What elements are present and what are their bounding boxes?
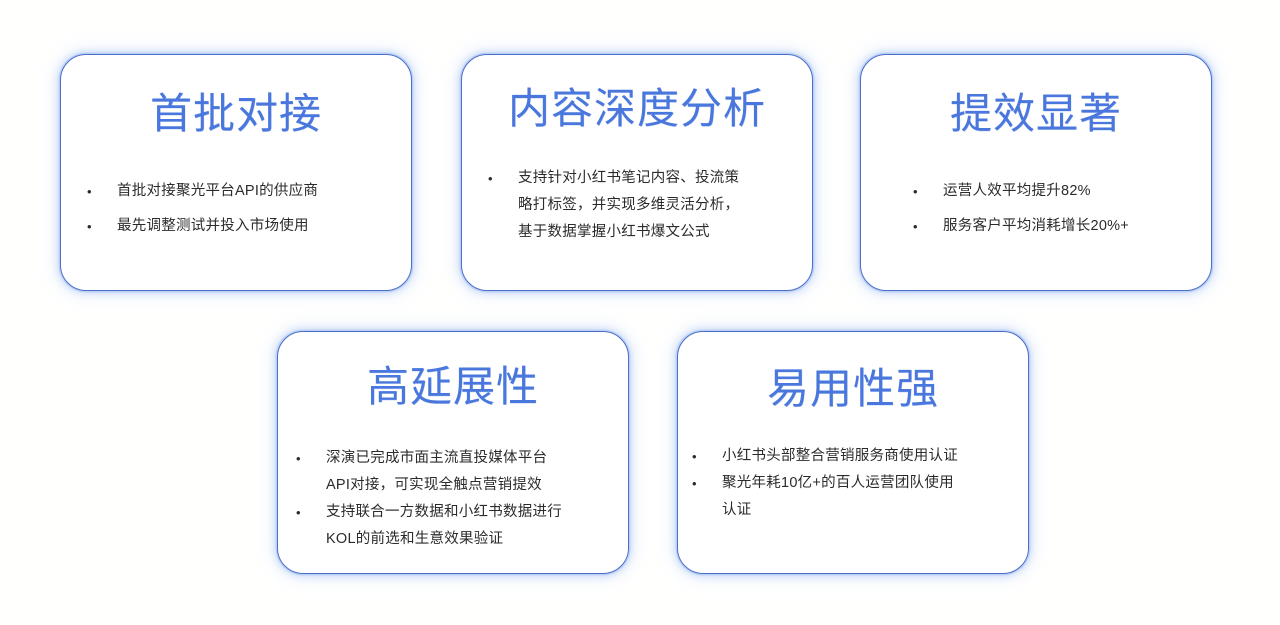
bullet-dot-icon: •	[87, 213, 117, 240]
bullet-item: • 首批对接聚光平台API的供应商	[87, 178, 395, 205]
bullet-line: 小红书头部整合营销服务商使用认证	[722, 443, 1016, 470]
bullet-item: • 服务客户平均消耗增长20%+	[913, 213, 1199, 240]
feature-card-usability: 易用性强 • 小红书头部整合营销服务商使用认证 • 聚光年耗10亿+的百人运营团…	[677, 331, 1029, 574]
bullet-line: 支持针对小红书笔记内容、投流策	[518, 165, 800, 192]
bullet-line: 支持联合一方数据和小红书数据进行	[326, 499, 616, 526]
feature-card-extensibility: 高延展性 • 深演已完成市面主流直投媒体平台 API对接，可实现全触点营销提效 …	[277, 331, 629, 574]
bullet-line: 运营人效平均提升82%	[943, 178, 1199, 205]
bullet-line: 首批对接聚光平台API的供应商	[117, 178, 395, 205]
bullet-text: 小红书头部整合营销服务商使用认证	[722, 443, 1016, 470]
bullet-line: 略打标签，并实现多维灵活分析，	[518, 192, 800, 219]
bullet-text: 聚光年耗10亿+的百人运营团队使用 认证	[722, 470, 1016, 524]
bullet-item: • 深演已完成市面主流直投媒体平台 API对接，可实现全触点营销提效	[296, 445, 616, 499]
bullet-line: 基于数据掌握小红书爆文公式	[518, 219, 800, 246]
bullet-text: 深演已完成市面主流直投媒体平台 API对接，可实现全触点营销提效	[326, 445, 616, 499]
bullet-dot-icon: •	[296, 499, 326, 526]
card-bullet-list: • 小红书头部整合营销服务商使用认证 • 聚光年耗10亿+的百人运营团队使用 认…	[678, 443, 1028, 524]
bullet-item: • 运营人效平均提升82%	[913, 178, 1199, 205]
bullet-line: API对接，可实现全触点营销提效	[326, 472, 616, 499]
card-title: 首批对接	[150, 91, 322, 136]
feature-card-efficiency-gain: 提效显著 • 运营人效平均提升82% • 服务客户平均消耗增长20%+	[860, 54, 1212, 291]
slide-canvas: 首批对接 • 首批对接聚光平台API的供应商 • 最先调整测试并投入市场使用 内…	[0, 0, 1280, 625]
bullet-dot-icon: •	[488, 165, 518, 192]
card-title: 高延展性	[367, 364, 539, 409]
bullet-item: • 小红书头部整合营销服务商使用认证	[692, 443, 1016, 470]
bullet-dot-icon: •	[692, 443, 722, 470]
feature-card-content-analysis: 内容深度分析 • 支持针对小红书笔记内容、投流策 略打标签，并实现多维灵活分析，…	[461, 54, 813, 291]
bullet-line: 深演已完成市面主流直投媒体平台	[326, 445, 616, 472]
feature-card-first-integration: 首批对接 • 首批对接聚光平台API的供应商 • 最先调整测试并投入市场使用	[60, 54, 412, 291]
bullet-dot-icon: •	[913, 178, 943, 205]
card-bullet-list: • 深演已完成市面主流直投媒体平台 API对接，可实现全触点营销提效 • 支持联…	[278, 445, 628, 553]
bullet-dot-icon: •	[913, 213, 943, 240]
bullet-line: 服务客户平均消耗增长20%+	[943, 213, 1199, 240]
bullet-item: • 支持针对小红书笔记内容、投流策 略打标签，并实现多维灵活分析， 基于数据掌握…	[488, 165, 800, 246]
card-title: 内容深度分析	[508, 86, 766, 131]
bullet-dot-icon: •	[87, 178, 117, 205]
bullet-line: KOL的前选和生意效果验证	[326, 526, 616, 553]
bullet-line: 聚光年耗10亿+的百人运营团队使用	[722, 470, 1016, 497]
bullet-dot-icon: •	[692, 470, 722, 497]
bullet-item: • 支持联合一方数据和小红书数据进行 KOL的前选和生意效果验证	[296, 499, 616, 553]
bullet-text: 支持针对小红书笔记内容、投流策 略打标签，并实现多维灵活分析， 基于数据掌握小红…	[518, 165, 800, 246]
bullet-text: 支持联合一方数据和小红书数据进行 KOL的前选和生意效果验证	[326, 499, 616, 553]
bullet-text: 最先调整测试并投入市场使用	[117, 213, 395, 240]
bullet-dot-icon: •	[296, 445, 326, 472]
bullet-text: 首批对接聚光平台API的供应商	[117, 178, 395, 205]
bullet-text: 运营人效平均提升82%	[943, 178, 1199, 205]
card-bullet-list: • 支持针对小红书笔记内容、投流策 略打标签，并实现多维灵活分析， 基于数据掌握…	[462, 165, 812, 246]
bullet-line: 最先调整测试并投入市场使用	[117, 213, 395, 240]
bullet-text: 服务客户平均消耗增长20%+	[943, 213, 1199, 240]
bullet-item: • 最先调整测试并投入市场使用	[87, 213, 395, 240]
card-bullet-list: • 首批对接聚光平台API的供应商 • 最先调整测试并投入市场使用	[61, 178, 411, 248]
card-bullet-list: • 运营人效平均提升82% • 服务客户平均消耗增长20%+	[861, 178, 1211, 248]
card-title: 易用性强	[767, 366, 939, 411]
bullet-item: • 聚光年耗10亿+的百人运营团队使用 认证	[692, 470, 1016, 524]
bullet-line: 认证	[722, 497, 1016, 524]
card-title: 提效显著	[950, 91, 1122, 136]
